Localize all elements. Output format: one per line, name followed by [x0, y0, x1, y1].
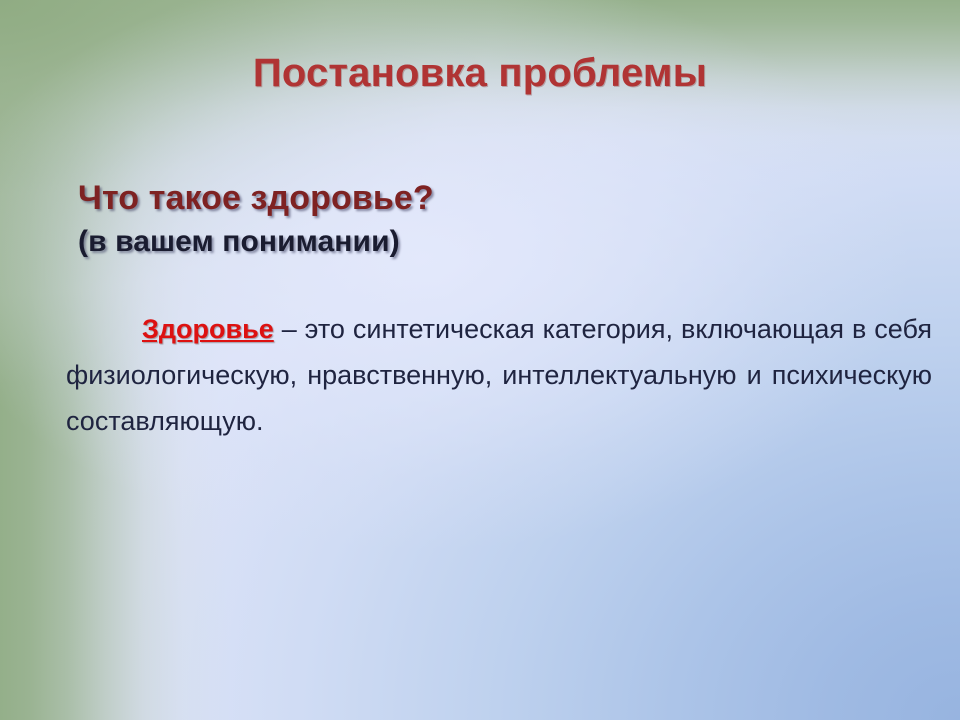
subheading-clarifier: (в вашем понимании) [78, 224, 698, 259]
slide-title: Постановка проблемы [0, 51, 960, 96]
subheading-block: Что такое здоровье? (в вашем понимании) [78, 178, 698, 260]
subheading-question: Что такое здоровье? [78, 178, 698, 218]
body-term-highlight: Здоровье [142, 314, 274, 344]
slide-content: Постановка проблемы Что такое здоровье? … [0, 0, 960, 720]
body-paragraph: Здоровье – это синтетическая категория, … [66, 306, 932, 490]
presentation-slide: Постановка проблемы Что такое здоровье? … [0, 0, 960, 720]
